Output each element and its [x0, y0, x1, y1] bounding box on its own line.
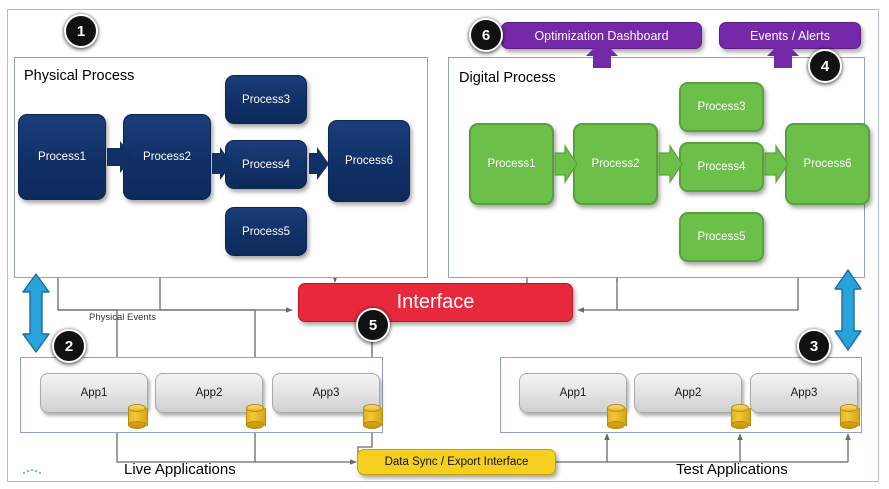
- database-icon-live-1: [128, 404, 146, 430]
- process-box-physical-5[interactable]: Process5: [225, 207, 307, 256]
- physical-events-label: Physical Events: [89, 312, 156, 323]
- process-box-digital-6[interactable]: Process6: [785, 123, 870, 205]
- process-box-digital-1[interactable]: Process1: [469, 123, 554, 205]
- process-box-digital-2[interactable]: Process2: [573, 123, 658, 205]
- step-badge-3: 3: [797, 329, 831, 363]
- panel-title-digital-process: Digital Process: [459, 70, 556, 86]
- app-box-test-2[interactable]: App2: [634, 373, 742, 413]
- database-icon-live-3: [363, 404, 381, 430]
- process-box-physical-1[interactable]: Process1: [18, 114, 106, 200]
- optimization-dashboard-button[interactable]: Optimization Dashboard: [501, 22, 702, 49]
- process-box-digital-3[interactable]: Process3: [679, 82, 764, 132]
- process-box-physical-3[interactable]: Process3: [225, 75, 307, 124]
- step-badge-1: 1: [64, 14, 98, 48]
- step-badge-2: 2: [52, 329, 86, 363]
- diagram-canvas: Physical Process Process1 Process2 Proce…: [0, 0, 889, 489]
- events-alerts-button[interactable]: Events / Alerts: [719, 22, 861, 49]
- database-icon-test-2: [731, 404, 749, 430]
- live-applications-label: Live Applications: [124, 461, 236, 478]
- step-badge-5: 5: [356, 308, 390, 342]
- step-badge-6: 6: [469, 18, 503, 52]
- process-box-digital-5[interactable]: Process5: [679, 212, 764, 262]
- test-applications-label: Test Applications: [676, 461, 788, 478]
- database-icon-live-2: [246, 404, 264, 430]
- step-badge-4: 4: [808, 49, 842, 83]
- data-sync-export-interface[interactable]: Data Sync / Export Interface: [357, 449, 556, 475]
- interface-box[interactable]: Interface: [298, 283, 573, 322]
- process-box-digital-4[interactable]: Process4: [679, 142, 764, 192]
- panel-title-physical-process: Physical Process: [24, 68, 134, 84]
- database-icon-test-3: [840, 404, 858, 430]
- process-box-physical-2[interactable]: Process2: [123, 114, 211, 200]
- database-icon-test-1: [607, 404, 625, 430]
- process-box-physical-4[interactable]: Process4: [225, 140, 307, 189]
- process-box-physical-6[interactable]: Process6: [328, 120, 410, 202]
